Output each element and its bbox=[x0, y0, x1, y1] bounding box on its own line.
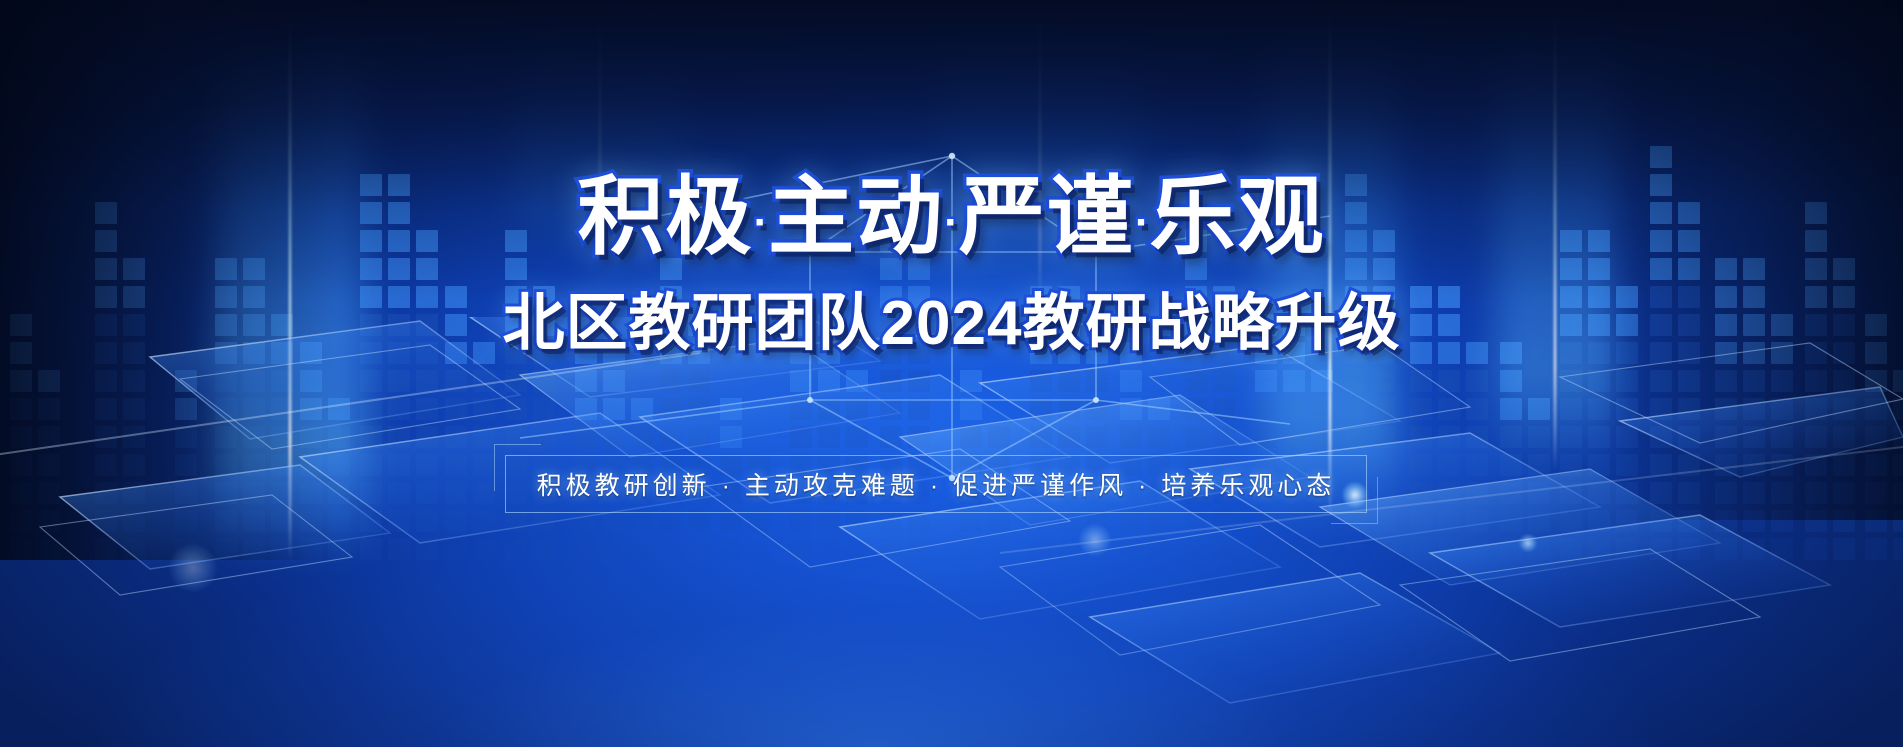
city-brick bbox=[1865, 314, 1887, 336]
city-brick bbox=[388, 370, 410, 392]
city-brick bbox=[1086, 398, 1108, 420]
city-brick bbox=[1438, 426, 1460, 448]
city-brick bbox=[1500, 370, 1522, 392]
city-brick bbox=[1588, 258, 1610, 280]
city-tower-row bbox=[790, 454, 868, 476]
city-brick bbox=[215, 454, 237, 476]
city-brick bbox=[1588, 286, 1610, 308]
city-tower-row bbox=[1500, 482, 1550, 504]
city-brick bbox=[388, 454, 410, 476]
city-tower-row bbox=[660, 454, 710, 476]
city-brick bbox=[1410, 286, 1432, 308]
city-brick bbox=[1500, 454, 1522, 476]
city-brick bbox=[960, 482, 982, 504]
city-brick bbox=[1466, 426, 1488, 448]
city-brick bbox=[960, 398, 982, 420]
city-tower-row bbox=[1650, 174, 1700, 196]
city-brick bbox=[360, 286, 382, 308]
city-brick bbox=[1833, 482, 1855, 504]
city-tower-row bbox=[1030, 370, 1108, 392]
city-tower-row bbox=[1185, 370, 1235, 392]
city-brick bbox=[300, 370, 322, 392]
city-brick bbox=[1438, 482, 1460, 504]
city-brick bbox=[688, 426, 710, 448]
city-brick bbox=[1893, 482, 1903, 504]
city-brick bbox=[1213, 342, 1235, 364]
city-brick bbox=[1185, 398, 1207, 420]
city-tower bbox=[215, 258, 293, 560]
city-brick bbox=[603, 426, 625, 448]
city-tower-row bbox=[215, 314, 293, 336]
city-tower-row bbox=[95, 230, 145, 252]
city-brick bbox=[243, 258, 265, 280]
city-brick bbox=[1650, 454, 1672, 476]
city-tower-row bbox=[960, 482, 1010, 504]
city-tower-row bbox=[1410, 314, 1488, 336]
city-tower-row bbox=[1345, 538, 1395, 560]
city-brick bbox=[1030, 398, 1052, 420]
city-brick bbox=[1805, 482, 1827, 504]
city-brick bbox=[575, 482, 597, 504]
city-brick bbox=[1438, 398, 1460, 420]
city-brick bbox=[360, 538, 382, 560]
city-brick bbox=[1255, 510, 1277, 532]
city-tower-row bbox=[1345, 230, 1395, 252]
city-brick bbox=[123, 370, 145, 392]
city-tower-row bbox=[10, 426, 60, 448]
city-tower-row bbox=[445, 482, 495, 504]
city-tower-row bbox=[1805, 342, 1855, 364]
city-brick bbox=[1311, 482, 1333, 504]
city-brick bbox=[1185, 510, 1207, 532]
city-brick bbox=[818, 454, 840, 476]
city-brick bbox=[505, 230, 527, 252]
city-brick bbox=[880, 202, 902, 224]
city-brick bbox=[1373, 342, 1395, 364]
city-brick bbox=[660, 510, 682, 532]
city-brick bbox=[1410, 426, 1432, 448]
city-tower-row bbox=[1500, 426, 1550, 448]
city-brick bbox=[360, 174, 382, 196]
city-brick bbox=[1058, 342, 1080, 364]
city-tower-row bbox=[880, 482, 930, 504]
city-brick bbox=[660, 370, 682, 392]
city-brick bbox=[631, 454, 653, 476]
city-brick bbox=[1743, 510, 1765, 532]
city-tower-row bbox=[1255, 342, 1333, 364]
city-brick bbox=[38, 510, 60, 532]
city-brick bbox=[123, 258, 145, 280]
city-brick bbox=[790, 482, 812, 504]
city-brick bbox=[1500, 342, 1522, 364]
city-tower-row bbox=[1805, 370, 1855, 392]
city-brick bbox=[1650, 538, 1672, 560]
city-brick bbox=[1865, 482, 1887, 504]
city-tower-row bbox=[1805, 538, 1855, 560]
city-brick bbox=[95, 286, 117, 308]
city-brick bbox=[271, 510, 293, 532]
city-brick bbox=[1311, 510, 1333, 532]
city-brick bbox=[10, 426, 32, 448]
city-tower-row bbox=[1255, 370, 1333, 392]
city-brick bbox=[1715, 258, 1737, 280]
city-brick bbox=[688, 454, 710, 476]
city-brick bbox=[908, 258, 930, 280]
city-tower-row bbox=[1865, 342, 1903, 364]
city-tower-row bbox=[1255, 314, 1333, 336]
city-tower-row bbox=[1865, 370, 1903, 392]
city-tower-row bbox=[10, 538, 60, 560]
city-brick bbox=[818, 342, 840, 364]
city-brick bbox=[631, 538, 653, 560]
city-tower-row bbox=[1345, 426, 1395, 448]
city-tower bbox=[1255, 314, 1333, 560]
city-brick bbox=[1438, 286, 1460, 308]
city-brick bbox=[1588, 482, 1610, 504]
city-tower-row bbox=[575, 510, 653, 532]
city-brick bbox=[1678, 258, 1700, 280]
city-brick bbox=[1678, 342, 1700, 364]
city-tower-row bbox=[1255, 510, 1333, 532]
city-brick bbox=[1283, 314, 1305, 336]
city-brick bbox=[790, 426, 812, 448]
city-tower-row bbox=[1500, 370, 1550, 392]
city-brick bbox=[1283, 538, 1305, 560]
city-brick bbox=[1678, 398, 1700, 420]
city-tower-row bbox=[1185, 426, 1235, 448]
city-brick bbox=[533, 286, 555, 308]
city-tower-row bbox=[1120, 342, 1170, 364]
city-brick bbox=[748, 538, 770, 560]
city-brick bbox=[660, 538, 682, 560]
city-tower-row bbox=[790, 314, 868, 336]
city-tower-row bbox=[505, 510, 555, 532]
city-brick bbox=[603, 342, 625, 364]
floor-tiles-svg bbox=[0, 317, 1903, 747]
city-brick bbox=[1086, 426, 1108, 448]
city-brick bbox=[243, 482, 265, 504]
city-brick bbox=[1833, 398, 1855, 420]
city-brick bbox=[360, 370, 382, 392]
city-tower-row bbox=[175, 370, 197, 392]
city-brick bbox=[1715, 342, 1737, 364]
city-brick bbox=[1560, 342, 1582, 364]
city-brick bbox=[300, 342, 322, 364]
city-tower-row bbox=[360, 398, 438, 420]
city-brick bbox=[1650, 482, 1672, 504]
city-tower bbox=[1410, 286, 1488, 560]
city-brick bbox=[688, 370, 710, 392]
city-brick bbox=[1185, 230, 1207, 252]
city-brick bbox=[1086, 482, 1108, 504]
city-brick bbox=[1058, 426, 1080, 448]
city-tower-row bbox=[505, 454, 555, 476]
city-tower-row bbox=[1865, 314, 1903, 336]
city-tower-row bbox=[1345, 202, 1395, 224]
city-brick bbox=[1715, 398, 1737, 420]
city-brick bbox=[1743, 426, 1765, 448]
city-tower-row bbox=[175, 454, 197, 476]
city-brick bbox=[360, 230, 382, 252]
city-brick bbox=[1833, 314, 1855, 336]
city-brick bbox=[603, 454, 625, 476]
city-brick bbox=[215, 258, 237, 280]
city-brick bbox=[720, 482, 742, 504]
city-tower-row bbox=[215, 342, 293, 364]
city-brick bbox=[1650, 146, 1672, 168]
city-brick bbox=[688, 314, 710, 336]
city-brick bbox=[660, 454, 682, 476]
city-tower-row bbox=[790, 370, 868, 392]
city-brick bbox=[1560, 230, 1582, 252]
city-tower-row bbox=[1500, 398, 1550, 420]
city-brick bbox=[1805, 454, 1827, 476]
city-tower-row bbox=[10, 342, 60, 364]
city-brick bbox=[1030, 426, 1052, 448]
city-tower bbox=[10, 314, 60, 560]
city-tower-row bbox=[1560, 230, 1638, 252]
city-tower-row bbox=[1185, 510, 1235, 532]
city-brick bbox=[1213, 370, 1235, 392]
city-tower-row bbox=[445, 510, 495, 532]
city-tower bbox=[300, 342, 350, 560]
city-tower-row bbox=[1650, 286, 1700, 308]
city-brick bbox=[1213, 538, 1235, 560]
city-brick bbox=[533, 510, 555, 532]
city-brick bbox=[1678, 482, 1700, 504]
city-tower-row bbox=[300, 538, 350, 560]
city-brick bbox=[790, 538, 812, 560]
city-tower-row bbox=[300, 482, 350, 504]
city-brick bbox=[1833, 286, 1855, 308]
city-brick bbox=[960, 538, 982, 560]
city-brick bbox=[1650, 426, 1672, 448]
city-brick bbox=[215, 538, 237, 560]
city-tower-row bbox=[660, 426, 710, 448]
city-brick bbox=[416, 314, 438, 336]
city-brick bbox=[328, 398, 350, 420]
city-brick bbox=[575, 426, 597, 448]
city-brick bbox=[123, 426, 145, 448]
city-brick bbox=[1086, 454, 1108, 476]
city-brick bbox=[416, 538, 438, 560]
city-brick bbox=[243, 510, 265, 532]
city-tower-row bbox=[300, 370, 350, 392]
city-tower-row bbox=[360, 230, 438, 252]
city-tower-row bbox=[445, 342, 495, 364]
city-brick bbox=[790, 510, 812, 532]
city-brick bbox=[575, 370, 597, 392]
city-brick bbox=[1213, 314, 1235, 336]
city-tower-row bbox=[1865, 398, 1903, 420]
city-brick bbox=[1865, 538, 1887, 560]
city-brick bbox=[1616, 314, 1638, 336]
city-tower-row bbox=[1410, 454, 1488, 476]
city-tower-row bbox=[505, 426, 555, 448]
city-brick bbox=[445, 538, 467, 560]
city-tower-row bbox=[1805, 426, 1855, 448]
city-brick bbox=[533, 538, 555, 560]
city-tower-row bbox=[1345, 398, 1395, 420]
city-tower-row bbox=[360, 538, 438, 560]
city-brick bbox=[300, 538, 322, 560]
city-brick bbox=[1120, 342, 1142, 364]
city-brick bbox=[271, 482, 293, 504]
city-tower bbox=[175, 370, 197, 560]
city-tower-row bbox=[1030, 510, 1108, 532]
light-beam-core bbox=[1039, 0, 1042, 300]
light-orb bbox=[1342, 482, 1368, 508]
city-brick bbox=[1410, 398, 1432, 420]
city-tower-row bbox=[360, 342, 438, 364]
city-brick bbox=[416, 342, 438, 364]
city-tower bbox=[1865, 314, 1903, 560]
city-brick bbox=[1743, 286, 1765, 308]
light-beam bbox=[1495, 0, 1615, 470]
city-brick bbox=[1833, 426, 1855, 448]
city-tower-row bbox=[575, 538, 653, 560]
city-brick bbox=[1715, 510, 1737, 532]
city-tower-row bbox=[360, 286, 438, 308]
city-brick bbox=[1588, 398, 1610, 420]
city-tower-row bbox=[215, 510, 293, 532]
city-brick bbox=[1805, 342, 1827, 364]
city-tower-row bbox=[790, 398, 868, 420]
city-brick bbox=[1311, 538, 1333, 560]
city-brick bbox=[818, 370, 840, 392]
city-brick bbox=[445, 482, 467, 504]
city-brick bbox=[388, 426, 410, 448]
city-brick bbox=[243, 454, 265, 476]
city-brick bbox=[10, 398, 32, 420]
city-tower-row bbox=[1650, 202, 1700, 224]
city-brick bbox=[1466, 538, 1488, 560]
city-brick bbox=[575, 342, 597, 364]
city-brick bbox=[1560, 398, 1582, 420]
city-brick bbox=[416, 398, 438, 420]
city-tower-row bbox=[215, 426, 293, 448]
city-brick bbox=[960, 510, 982, 532]
city-tower-row bbox=[445, 538, 495, 560]
city-tower-row bbox=[1805, 258, 1855, 280]
city-brick bbox=[1805, 202, 1827, 224]
city-brick bbox=[243, 314, 265, 336]
title-part-2: 主动 bbox=[768, 169, 944, 265]
city-tower bbox=[720, 398, 770, 560]
city-tower-row bbox=[445, 286, 495, 308]
city-brick bbox=[1213, 286, 1235, 308]
city-brick bbox=[1311, 426, 1333, 448]
city-brick bbox=[960, 426, 982, 448]
city-brick bbox=[1616, 342, 1638, 364]
city-brick bbox=[95, 398, 117, 420]
city-brick bbox=[10, 538, 32, 560]
city-tower-row bbox=[1715, 482, 1793, 504]
city-tower-row bbox=[10, 370, 60, 392]
light-beam bbox=[515, 0, 685, 250]
city-tower-row bbox=[1410, 286, 1488, 308]
city-brick bbox=[880, 454, 902, 476]
city-brick bbox=[1560, 510, 1582, 532]
city-tower-row bbox=[95, 258, 145, 280]
city-brick bbox=[1466, 454, 1488, 476]
city-brick bbox=[38, 426, 60, 448]
city-brick bbox=[1185, 426, 1207, 448]
city-tower-row bbox=[215, 286, 293, 308]
city-brick bbox=[1650, 370, 1672, 392]
city-brick bbox=[95, 510, 117, 532]
city-brick bbox=[1410, 482, 1432, 504]
city-brick bbox=[10, 314, 32, 336]
city-brick bbox=[880, 286, 902, 308]
city-brick bbox=[505, 454, 527, 476]
city-brick bbox=[660, 398, 682, 420]
city-tower-row bbox=[1715, 510, 1793, 532]
city-tower-row bbox=[1345, 342, 1395, 364]
city-brick bbox=[1255, 482, 1277, 504]
city-brick bbox=[1588, 510, 1610, 532]
city-tower-row bbox=[880, 398, 930, 420]
city-brick bbox=[388, 286, 410, 308]
city-tower-row bbox=[10, 398, 60, 420]
city-tower-row bbox=[10, 482, 60, 504]
city-brick bbox=[1185, 342, 1207, 364]
city-brick bbox=[328, 454, 350, 476]
city-brick bbox=[1650, 202, 1672, 224]
city-tower-row bbox=[360, 258, 438, 280]
city-brick bbox=[1466, 510, 1488, 532]
city-brick bbox=[533, 454, 555, 476]
city-brick bbox=[123, 398, 145, 420]
city-tower-row bbox=[1650, 314, 1700, 336]
city-tower-row bbox=[360, 202, 438, 224]
city-tower-row bbox=[1120, 426, 1170, 448]
city-tower-row bbox=[1865, 538, 1903, 560]
city-brick bbox=[1500, 538, 1522, 560]
city-brick bbox=[1771, 538, 1793, 560]
city-brick bbox=[1213, 482, 1235, 504]
city-brick bbox=[1893, 510, 1903, 532]
city-brick bbox=[38, 482, 60, 504]
city-tower bbox=[1500, 342, 1550, 560]
city-brick bbox=[1616, 482, 1638, 504]
city-tower-row bbox=[880, 230, 930, 252]
city-brick bbox=[1086, 370, 1108, 392]
city-brick bbox=[1771, 398, 1793, 420]
city-tower-row bbox=[1715, 286, 1793, 308]
city-brick bbox=[720, 538, 742, 560]
city-brick bbox=[1345, 426, 1367, 448]
city-brick bbox=[445, 398, 467, 420]
city-tower-row bbox=[505, 370, 555, 392]
light-beam bbox=[940, 0, 1140, 300]
city-brick bbox=[1678, 202, 1700, 224]
city-tower-row bbox=[1410, 398, 1488, 420]
city-brick bbox=[243, 398, 265, 420]
light-orb bbox=[1079, 524, 1111, 556]
city-brick bbox=[631, 510, 653, 532]
slogan-frame: 积极教研创新 · 主动攻克难题 · 促进严谨作风 · 培养乐观心态 bbox=[505, 455, 1367, 513]
city-tower-row bbox=[10, 510, 60, 532]
city-brick bbox=[1148, 454, 1170, 476]
city-brick bbox=[603, 398, 625, 420]
city-brick bbox=[388, 258, 410, 280]
city-tower-row bbox=[1805, 454, 1855, 476]
city-brick bbox=[1743, 342, 1765, 364]
city-tower-row bbox=[1185, 342, 1235, 364]
city-tower-row bbox=[360, 454, 438, 476]
city-brick bbox=[1893, 398, 1903, 420]
